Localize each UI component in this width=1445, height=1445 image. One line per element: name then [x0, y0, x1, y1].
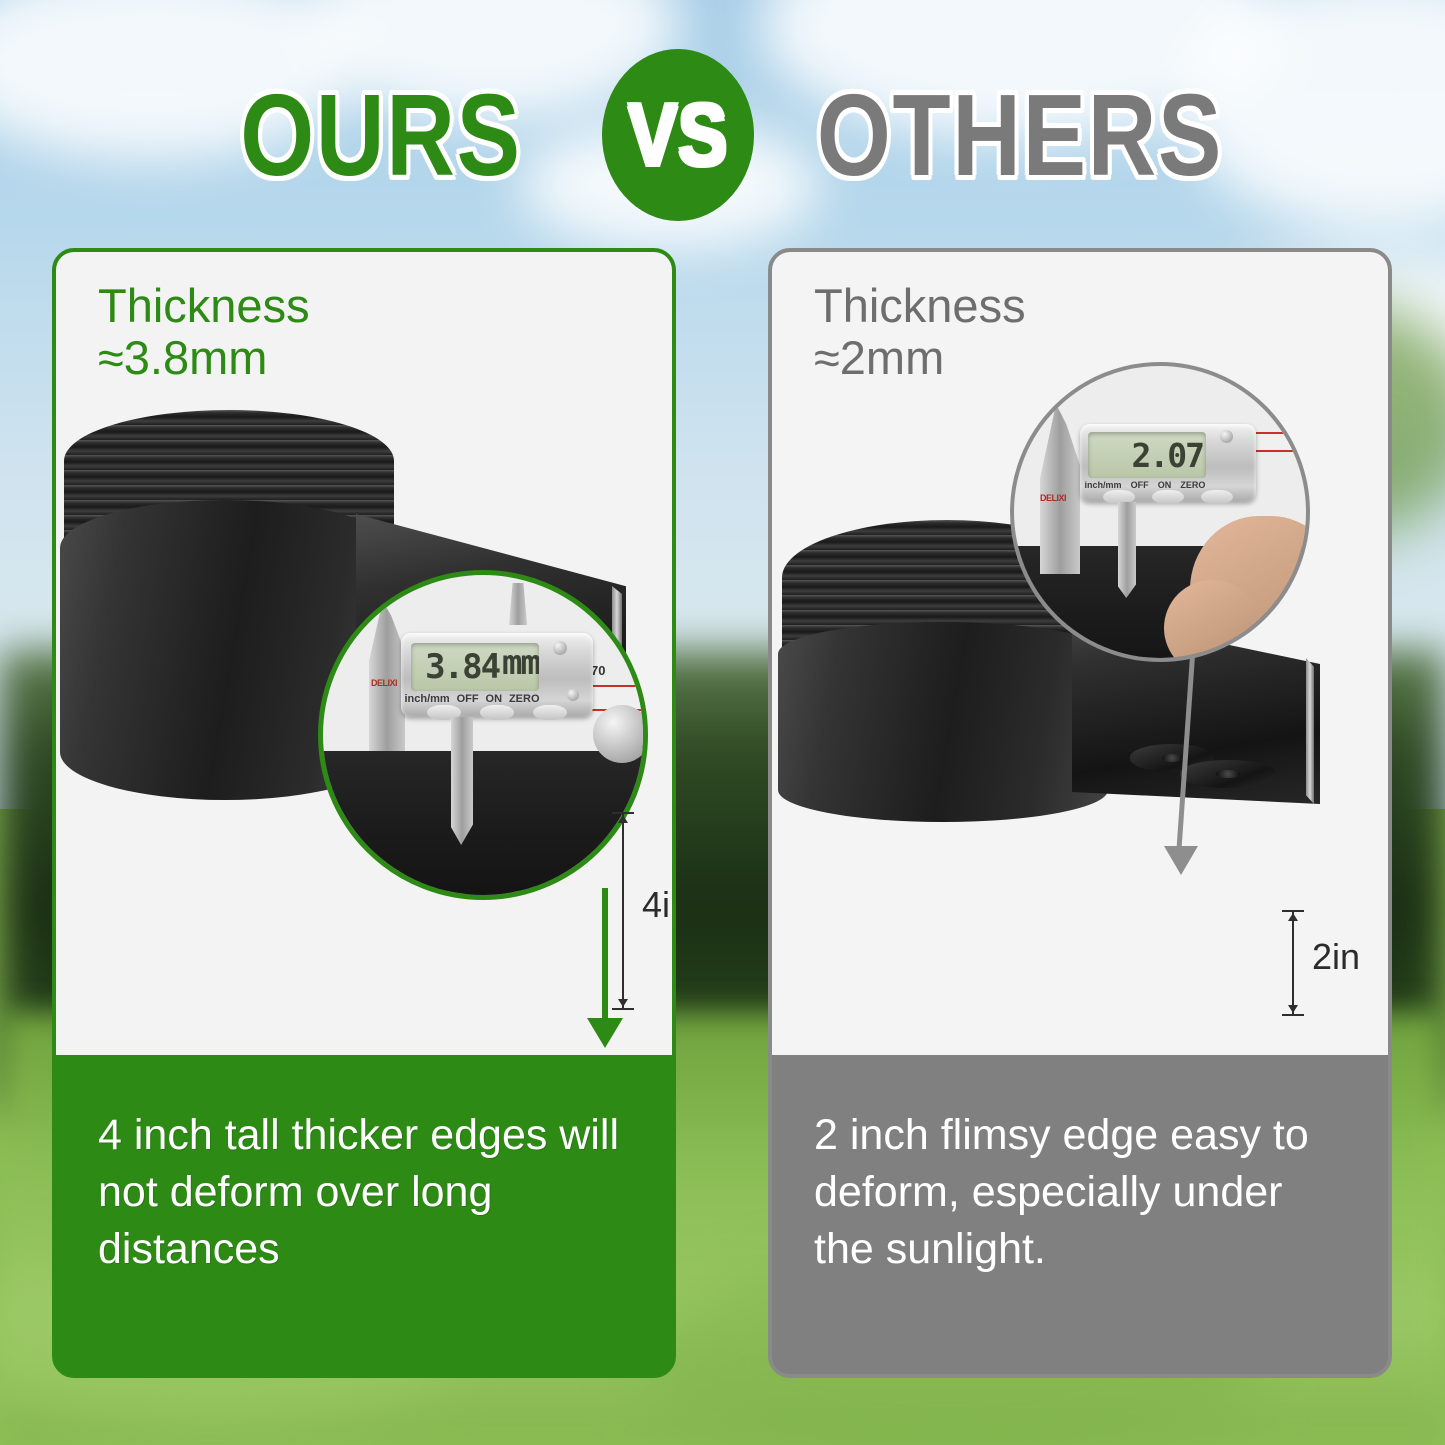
caliper-thumb-wheel — [593, 705, 648, 763]
ours-magnified-edging — [323, 751, 643, 900]
others-callout-arrow-head — [1164, 846, 1198, 875]
ours-thickness-value: ≈3.8mm — [98, 332, 310, 384]
caliper-button — [1201, 490, 1233, 504]
others-dimension-2in: 2in — [1272, 910, 1382, 1030]
dimension-arrow-up — [618, 815, 628, 823]
vs-badge: VS — [602, 49, 754, 221]
caliper-button-label-inchmm: inch/mm — [404, 693, 449, 705]
caliper-depth-blade — [451, 717, 473, 845]
caliper-scale-number: 70 — [591, 663, 605, 678]
caliper-brand-label: DELIXI — [1040, 494, 1066, 503]
caliper-button-label-inchmm: inch/mm — [1085, 480, 1122, 490]
others-magnifier-circle: DELIXI 2.07 inch/mm OFF ON ZERO — [1010, 362, 1310, 662]
caliper-button — [1152, 490, 1184, 504]
caliper-button-label-on: ON — [486, 693, 503, 705]
caliper-button — [480, 705, 514, 720]
ours-callout-arrow-head — [587, 1018, 623, 1048]
dimension-line — [622, 814, 624, 1010]
caliper-unit: mm — [502, 643, 539, 683]
ours-caption: 4 inch tall thicker edges will not defor… — [56, 1055, 672, 1374]
caliper-body: 3.84 mm inch/mm OFF ON ZERO — [401, 633, 593, 717]
dimension-arrow-down — [1288, 1005, 1298, 1013]
caliper-lock-screw — [509, 583, 527, 625]
caliper-body: 2.07 inch/mm OFF ON ZERO — [1080, 424, 1256, 502]
caliper-lcd: 3.84 mm — [411, 643, 539, 691]
caliper-button-row — [401, 705, 593, 720]
caliper-reading: 3.84 — [425, 647, 499, 687]
caliper-button-label-zero: ZERO — [1180, 480, 1205, 490]
caliper-lcd: 2.07 — [1088, 432, 1206, 478]
caliper-button-labels: inch/mm OFF ON ZERO — [1080, 480, 1210, 490]
caliper-screw — [553, 641, 567, 655]
caliper-button-row — [1080, 490, 1256, 504]
vs-badge-label: VS — [628, 91, 728, 179]
caliper-reading: 2.07 — [1132, 436, 1203, 475]
ours-comparison-card: Thickness ≈3.8mm 4in — [52, 248, 676, 1378]
caliper-button-label-off: OFF — [457, 693, 479, 705]
caliper-jaw — [369, 601, 405, 751]
others-anchor-stake — [1180, 760, 1276, 788]
others-tail-thickness-edge — [1306, 658, 1314, 804]
caliper-button — [533, 705, 567, 720]
ours-photo-area: Thickness ≈3.8mm 4in — [56, 252, 672, 1055]
caliper-button-label-off: OFF — [1131, 480, 1149, 490]
others-thickness-value: ≈2mm — [814, 332, 1026, 384]
ours-dimension-4in: 4in — [602, 812, 672, 1022]
ours-dimension-label: 4in — [642, 884, 672, 926]
dimension-arrow-down — [618, 999, 628, 1007]
caliper-button — [1103, 490, 1135, 504]
header-ours-title: OURS — [204, 77, 557, 193]
caliper-jaw — [1040, 404, 1080, 574]
caliper-depth-blade — [1118, 502, 1136, 598]
caliper-screw — [1220, 430, 1233, 443]
ours-magnifier-circle: DELIXI 70 3.84 mm inch/mm OFF ON ZERO — [318, 570, 648, 900]
caliper-brand-label: DELIXI — [371, 679, 397, 688]
caliper-button-labels: inch/mm OFF ON ZERO — [401, 693, 543, 705]
comparison-header: OURS VS OTHERS — [0, 52, 1445, 217]
others-photo-area: Thickness ≈2mm 2in DELIXI — [772, 252, 1388, 1055]
ours-thickness-block: Thickness ≈3.8mm — [98, 280, 310, 383]
caliper-button-label-on: ON — [1158, 480, 1172, 490]
others-comparison-card: Thickness ≈2mm 2in DELIXI — [768, 248, 1392, 1378]
header-others-title: OTHERS — [806, 77, 1232, 193]
others-thickness-label: Thickness — [814, 280, 1026, 332]
ours-thickness-label: Thickness — [98, 280, 310, 332]
dimension-arrow-up — [1288, 913, 1298, 921]
others-dimension-label: 2in — [1312, 936, 1360, 978]
others-caption: 2 inch flimsy edge easy to deform, espec… — [772, 1055, 1388, 1374]
caliper-screw — [567, 689, 579, 701]
dimension-line — [1292, 912, 1294, 1016]
others-thickness-block: Thickness ≈2mm — [814, 280, 1026, 383]
caliper-button-label-zero: ZERO — [509, 693, 540, 705]
